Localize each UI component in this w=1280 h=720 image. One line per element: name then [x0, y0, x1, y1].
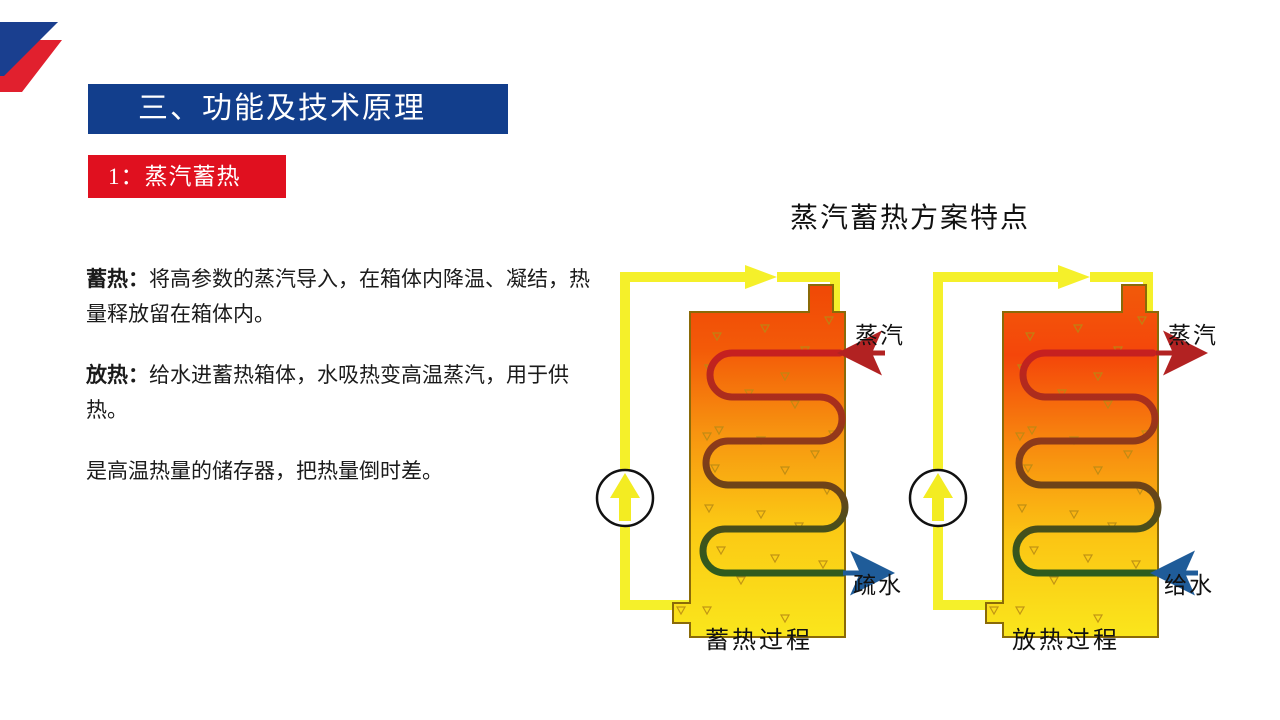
right-pump-icon [910, 470, 966, 526]
paragraph-summary: 是高温热量的储存器，把热量倒时差。 [86, 454, 606, 489]
right-tank-body [986, 285, 1158, 637]
left-diagram-caption: 蓄热过程 [705, 620, 813, 655]
diagram-title: 蒸汽蓄热方案特点 [700, 196, 1120, 236]
left-unit [597, 265, 885, 637]
paragraph-summary-text: 是高温热量的储存器，把热量倒时差。 [86, 459, 443, 483]
section-header-bar: 三、功能及技术原理 [88, 84, 508, 134]
body-text-block: 蓄热：将高参数的蒸汽导入，在箱体内降温、凝结，热量释放留在箱体内。 放热：给水进… [86, 262, 606, 489]
right-diagram-caption: 放热过程 [1012, 620, 1120, 655]
paragraph-storage-lead: 蓄热： [86, 267, 149, 291]
slide-canvas: 三、功能及技术原理 1：蒸汽蓄热 蓄热：将高参数的蒸汽导入，在箱体内降温、凝结，… [0, 0, 1280, 720]
paragraph-release-lead: 放热： [86, 363, 149, 387]
right-unit [910, 265, 1198, 637]
right-feedwater-label: 给水 [1164, 566, 1214, 600]
right-steam-label: 蒸汽 [1168, 316, 1218, 350]
paragraph-release: 放热：给水进蓄热箱体，水吸热变高温蒸汽，用于供热。 [86, 358, 606, 428]
paragraph-storage: 蓄热：将高参数的蒸汽导入，在箱体内降温、凝结，热量释放留在箱体内。 [86, 262, 606, 332]
left-steam-label: 蒸汽 [855, 316, 905, 350]
left-tank-body [673, 285, 845, 637]
left-pump-icon [597, 470, 653, 526]
paragraph-release-text: 给水进蓄热箱体，水吸热变高温蒸汽，用于供热。 [86, 363, 569, 422]
section-header-title: 三、功能及技术原理 [138, 94, 426, 124]
sub-header-bar: 1：蒸汽蓄热 [88, 155, 286, 198]
paragraph-storage-text: 将高参数的蒸汽导入，在箱体内降温、凝结，热量释放留在箱体内。 [86, 267, 590, 326]
left-drain-label: 疏水 [853, 566, 903, 600]
sub-header-title: 1：蒸汽蓄热 [108, 165, 241, 188]
